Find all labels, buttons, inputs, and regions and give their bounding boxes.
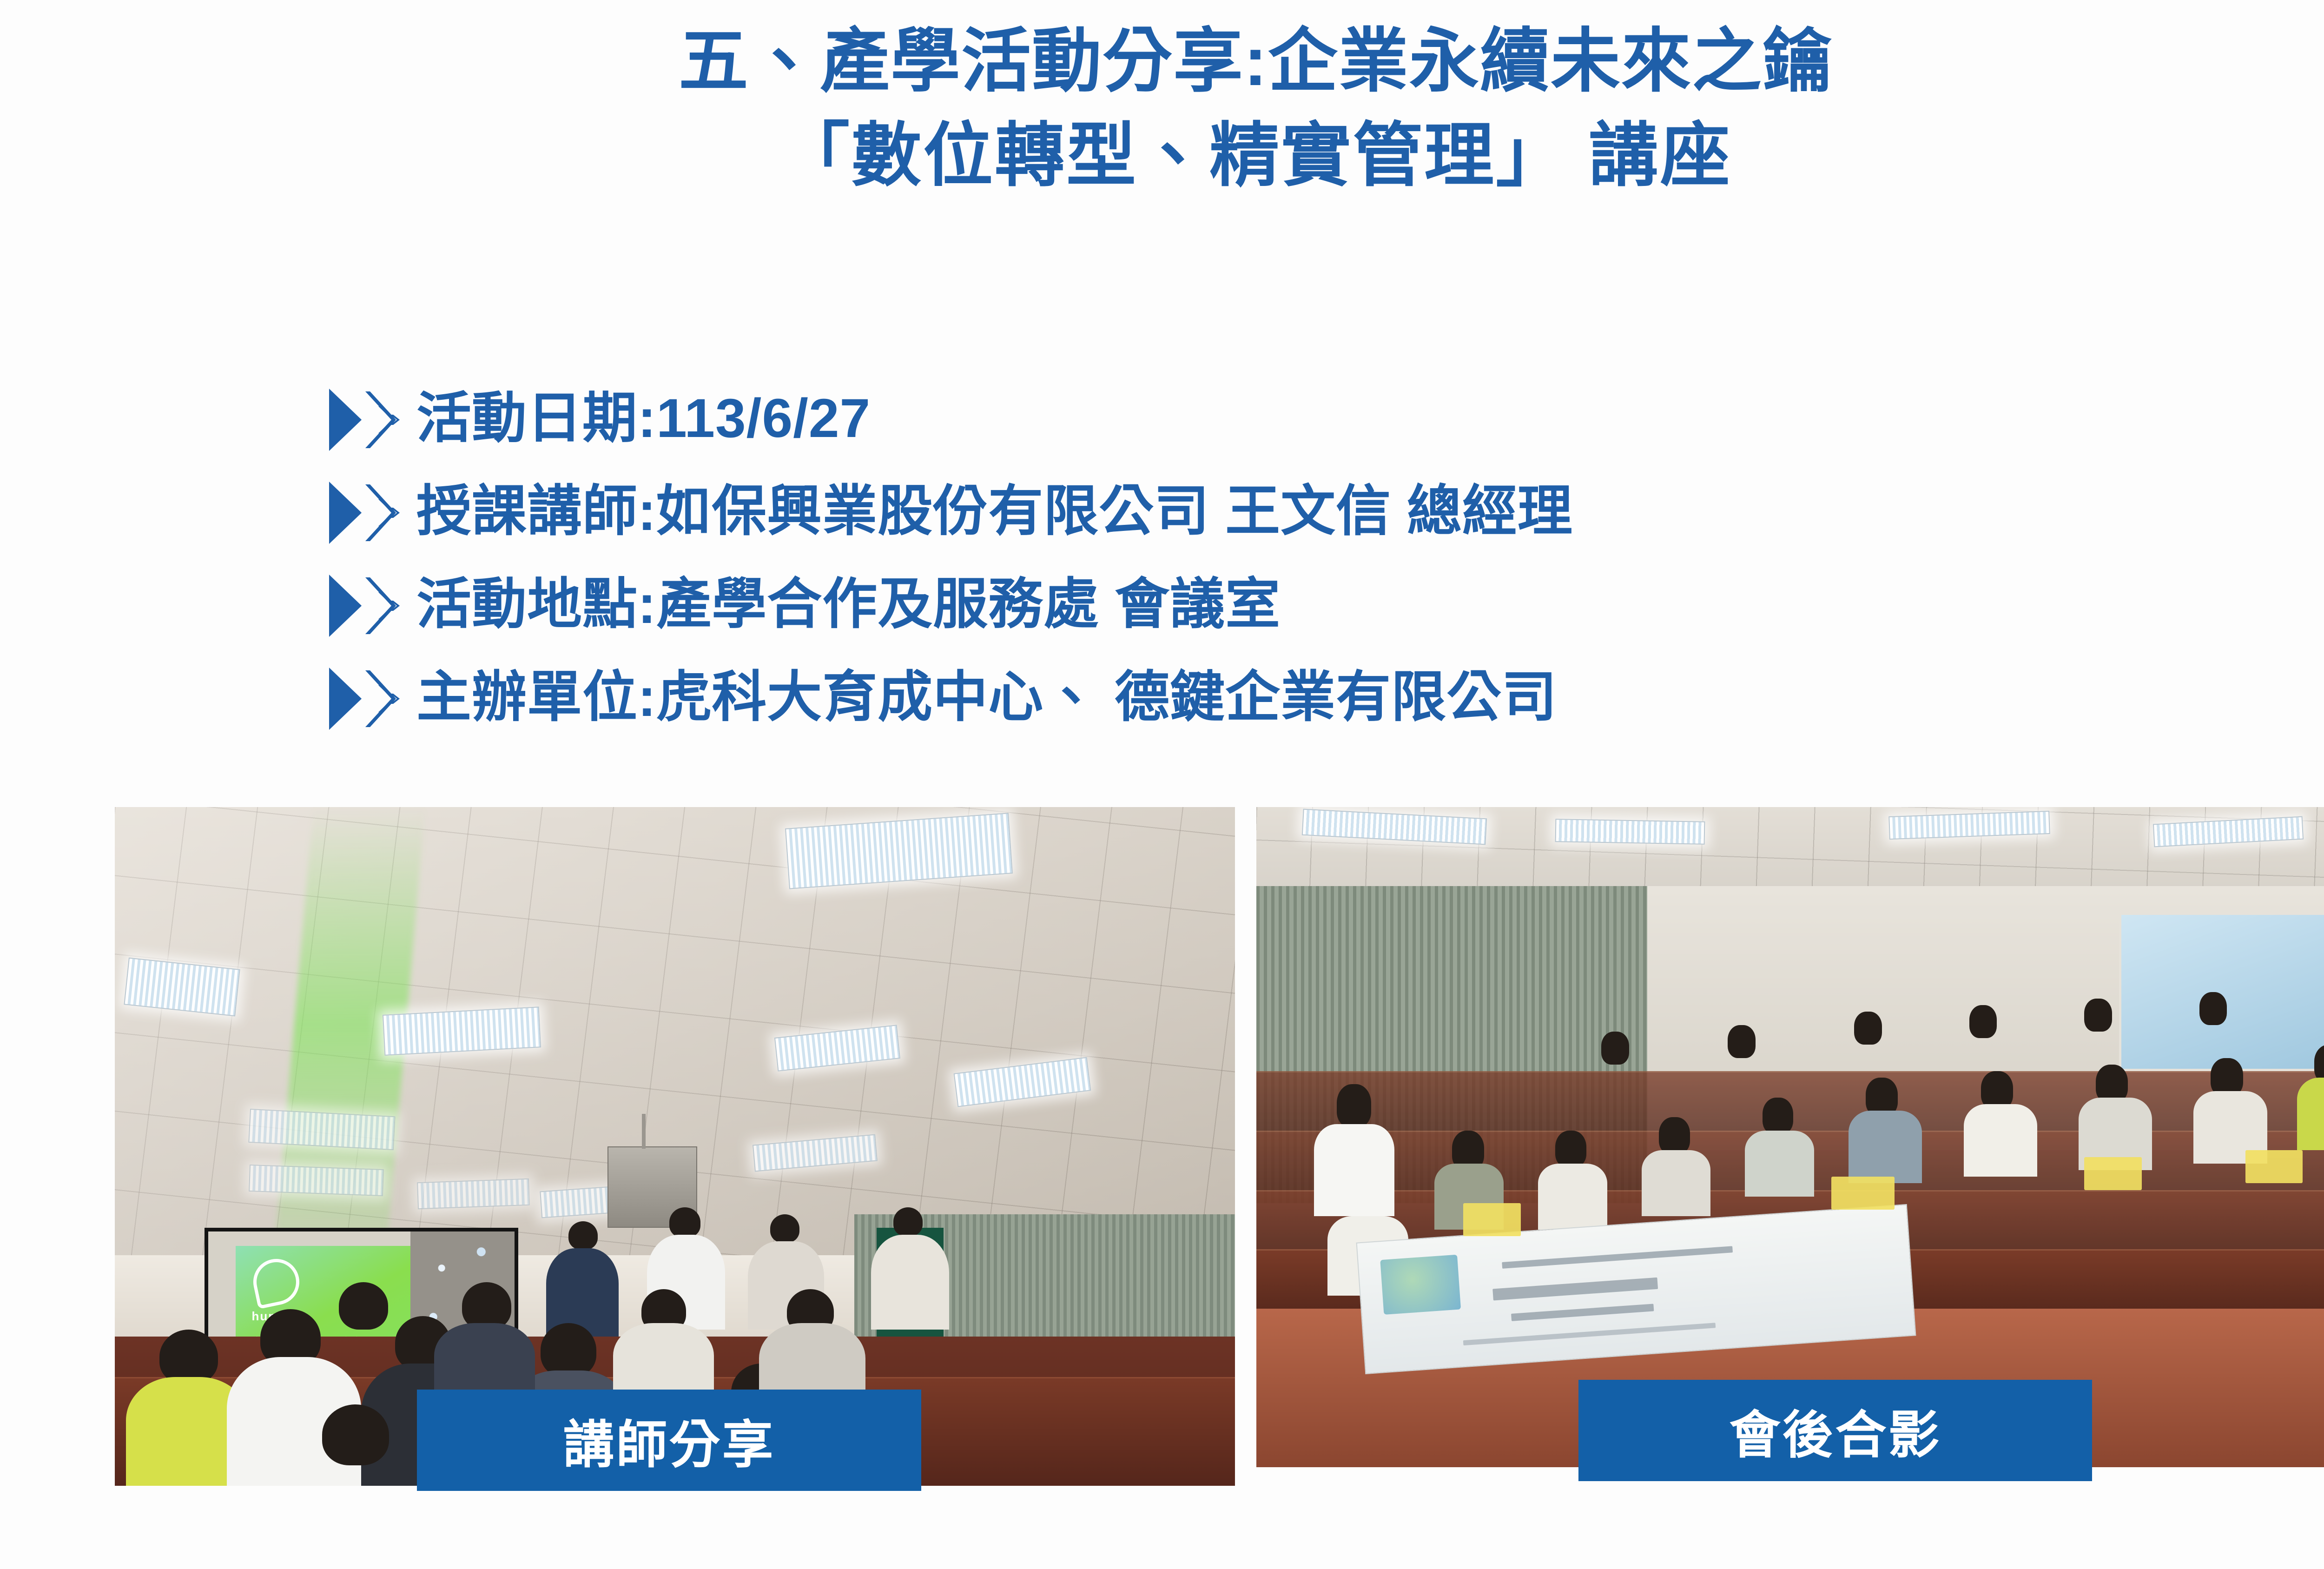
ceiling-lamp [1555, 819, 1705, 845]
name-card [1831, 1177, 1895, 1210]
ceiling-lamp [249, 1165, 384, 1196]
triple-chevron-icon [325, 478, 404, 548]
triple-chevron-icon [325, 571, 404, 641]
hupao-leaf-logo-icon [249, 1255, 304, 1310]
person-head [1601, 1032, 1629, 1065]
name-card [2084, 1157, 2142, 1190]
banner-text-line [1492, 1277, 1658, 1300]
person-head [669, 1207, 700, 1237]
page-title: 五、產學活動分享:企業永續未來之鑰 「數位轉型、精實管理」 講座 [0, 14, 2324, 202]
ceiling-lamp [383, 1006, 541, 1055]
person-body [1964, 1104, 2037, 1177]
person-body [1745, 1131, 1814, 1197]
person-body [1642, 1150, 1710, 1216]
triple-chevron-icon [325, 385, 404, 455]
person-head [1763, 1098, 1794, 1135]
ceiling-lamp [417, 1178, 530, 1210]
person-head [2084, 999, 2112, 1032]
name-card [1463, 1203, 1521, 1236]
person-head [2211, 1058, 2243, 1096]
person-body [1849, 1111, 1922, 1183]
person-head [1969, 1005, 1997, 1038]
person-head [1555, 1131, 1586, 1168]
title-line-2: 「數位轉型、精實管理」 講座 [0, 108, 2324, 203]
person-head [1337, 1084, 1371, 1127]
caption-lecturer-sharing: 講師分享 [417, 1390, 921, 1491]
person-head [541, 1323, 597, 1377]
list-item: 活動地點:產學合作及服務處 會議室 [325, 558, 2324, 651]
photo-group-photo [1256, 807, 2324, 1467]
person-body [2297, 1078, 2324, 1150]
person-head [1981, 1071, 2013, 1109]
slide-canvas: 26 五、產學活動分享:企業永續未來之鑰 「數位轉型、精實管理」 講座 活動日期… [0, 0, 2324, 1569]
person-body [871, 1235, 950, 1330]
event-details-list: 活動日期:113/6/27 授課講師:如保興業股份有限公司 王文信 總經理 [325, 372, 2324, 744]
list-item-label: 活動日期:113/6/27 [416, 391, 871, 446]
banner-text-line [1502, 1246, 1733, 1269]
list-item-label: 主辦單位:虎科大育成中心、 德鍵企業有限公司 [416, 670, 1557, 725]
person-head [339, 1282, 388, 1330]
window [2119, 913, 2324, 1071]
list-item: 主辦單位:虎科大育成中心、 德鍵企業有限公司 [325, 651, 2324, 744]
list-item-label: 活動地點:產學合作及服務處 會議室 [416, 577, 1281, 632]
banner-text-line [1511, 1304, 1654, 1321]
person-head [2096, 1065, 2128, 1103]
caption-group-photo: 會後合影 [1578, 1380, 2092, 1481]
photo-lecturer-sharing: hupao 企業永續未來之鑰 「數位轉型、精實管理」 如保興業股份有限公司 王文… [115, 807, 1235, 1486]
person-head [568, 1221, 598, 1250]
list-item: 授課講師:如保興業股份有限公司 王文信 總經理 [325, 465, 2324, 558]
person-head [893, 1207, 923, 1236]
person-body [1314, 1124, 1394, 1217]
person-body [1538, 1164, 1607, 1230]
person-head [770, 1214, 799, 1243]
person-body [546, 1248, 619, 1337]
title-line-1: 五、產學活動分享:企業永續未來之鑰 [0, 14, 2324, 108]
person-head [159, 1330, 218, 1384]
person-head [1659, 1117, 1690, 1154]
banner-text-line [1463, 1323, 1716, 1345]
person-head [322, 1404, 390, 1465]
person-head [1728, 1025, 1755, 1058]
list-item: 活動日期:113/6/27 [325, 372, 2324, 465]
list-item-label: 授課講師:如保興業股份有限公司 王文信 總經理 [416, 484, 1573, 539]
name-card [2245, 1150, 2303, 1183]
person-head [2199, 992, 2227, 1025]
person-head [1854, 1012, 1882, 1045]
triple-chevron-icon [325, 664, 404, 734]
person-head [462, 1282, 511, 1330]
person-head [1866, 1078, 1898, 1116]
